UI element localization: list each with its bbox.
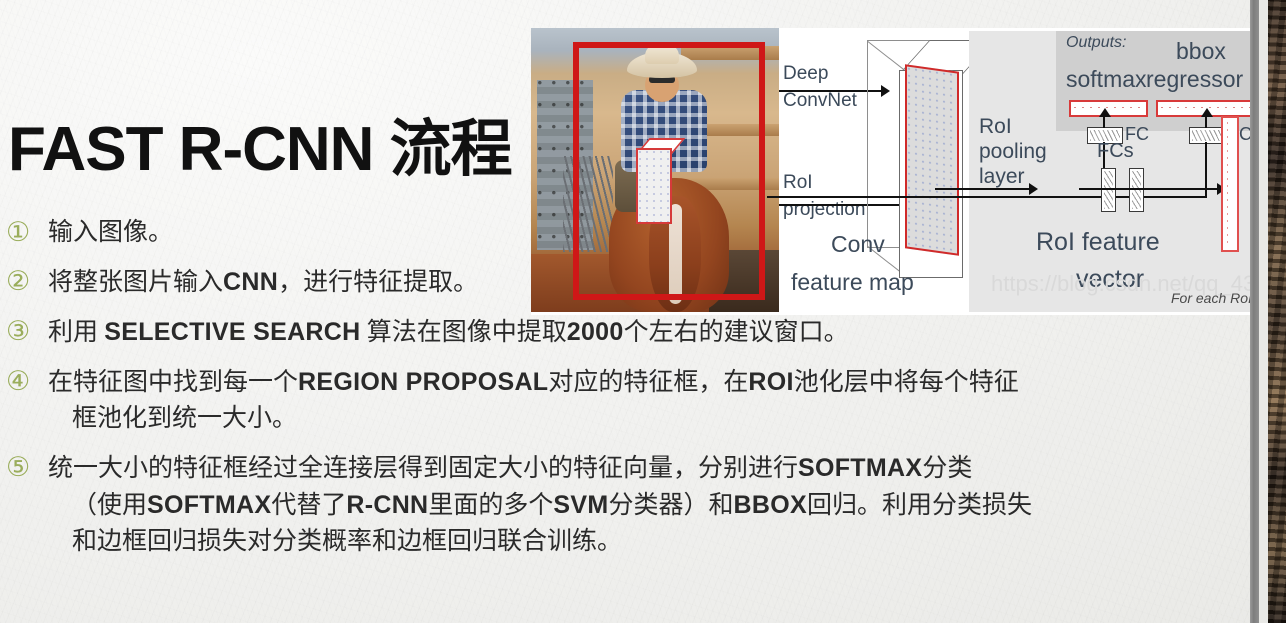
emphasized-term: R-CNN: [346, 491, 428, 519]
emphasized-term: CNN: [223, 268, 278, 296]
roi-pooling-label-line2: pooling: [979, 141, 1047, 163]
text-run: 将整张图片输入: [48, 269, 223, 296]
page-title: FAST R-CNN 流程: [8, 98, 512, 188]
text-run: 个左右的建议窗口。: [624, 319, 849, 346]
roi-pooling-layer-box: [636, 148, 672, 224]
roi-projection-label-line2: projection: [783, 199, 865, 221]
bbox-output-label-line2: regressor: [1146, 68, 1243, 90]
deep-convnet-label-line1: Deep: [783, 63, 828, 85]
text-run: 代替了: [271, 492, 346, 519]
list-item-line: 和边框回归损失对分类概率和边框回归联合训练。: [48, 524, 1186, 560]
text-run: 在特征图中找到每一个: [48, 369, 298, 396]
emphasized-term: SOFTMAX: [798, 454, 922, 482]
pooling-to-fcs-line: [1079, 188, 1221, 190]
fc-box-bbox: [1189, 127, 1225, 144]
right-dark-texture-strip: [1268, 0, 1286, 623]
fcs-label: FCs: [1097, 140, 1134, 162]
list-item-number: ⑤: [6, 450, 48, 486]
roi-pooling-label-line3: layer: [979, 166, 1025, 188]
text-run: 算法在图像中提取: [361, 319, 567, 346]
list-item-text: 在特征图中找到每一个REGION PROPOSAL对应的特征框，在ROI池化层中…: [48, 364, 1186, 437]
text-run: 利用: [48, 319, 104, 346]
list-item: ⑤统一大小的特征框经过全连接层得到固定大小的特征向量，分别进行SOFTMAX分类…: [6, 450, 1186, 560]
list-item-line: 统一大小的特征框经过全连接层得到固定大小的特征向量，分别进行SOFTMAX分类: [48, 450, 1186, 487]
list-item: ④在特征图中找到每一个REGION PROPOSAL对应的特征框，在ROI池化层…: [6, 364, 1186, 437]
text-run: 和边框回归损失对分类概率和边框回归联合训练。: [72, 528, 622, 555]
emphasized-term: SOFTMAX: [147, 491, 271, 519]
text-run: 分类器）和: [609, 492, 734, 519]
roi-feature-vector-bar: [1221, 116, 1239, 252]
emphasized-term: REGION PROPOSAL: [298, 368, 548, 396]
conv-feature-map-label-line2: feature map: [791, 271, 914, 293]
softmax-arrow-head: [1099, 108, 1111, 117]
emphasized-term: SELECTIVE SEARCH: [104, 318, 360, 346]
list-item-line: 在特征图中找到每一个REGION PROPOSAL对应的特征框，在ROI池化层中…: [48, 364, 1186, 401]
list-item-line: 利用 SELECTIVE SEARCH 算法在图像中提取2000个左右的建议窗口…: [48, 314, 1186, 351]
list-item-line: 框池化到统一大小。: [48, 401, 1186, 437]
emphasized-term: BBOX: [734, 491, 807, 519]
roi-feature-vector-label-line1: RoI feature: [1036, 231, 1160, 253]
featuremap-to-pooling-arrow: [1029, 183, 1038, 195]
right-grey-bar: [1250, 0, 1259, 623]
fcs-unit-1: [1101, 168, 1116, 212]
bbox-arrow-head: [1201, 108, 1213, 117]
text-run: 回归。利用分类损失: [807, 492, 1032, 519]
emphasized-term: ROI: [748, 368, 793, 396]
right-edge-gap: [1259, 0, 1268, 623]
text-run: 框池化到统一大小。: [72, 405, 297, 432]
list-item-number: ①: [6, 215, 48, 251]
fast-rcnn-architecture-diagram: Deep ConvNet RoI projection Conv feature…: [531, 28, 1266, 315]
emphasized-term: SVM: [553, 491, 608, 519]
softmax-output-label: softmax: [1066, 68, 1147, 90]
emphasized-term: 2000: [567, 318, 624, 346]
text-run: 统一大小的特征框经过全连接层得到固定大小的特征向量，分别进行: [48, 455, 798, 482]
roi-pooling-label-line1: RoI: [979, 116, 1012, 138]
conv-feature-map-label-line1: Conv: [831, 233, 885, 255]
text-run: 里面的多个: [428, 492, 553, 519]
text-run: （使用: [72, 492, 147, 519]
list-item-number: ②: [6, 264, 48, 300]
text-run: 输入图像。: [48, 219, 173, 246]
list-item: ③利用 SELECTIVE SEARCH 算法在图像中提取2000个左右的建议窗…: [6, 314, 1186, 351]
list-item-text: 利用 SELECTIVE SEARCH 算法在图像中提取2000个左右的建议窗口…: [48, 314, 1186, 351]
text-run: 对应的特征框，在: [548, 369, 748, 396]
list-item-number: ④: [6, 364, 48, 400]
outputs-label: Outputs:: [1066, 34, 1126, 52]
text-run: ，进行特征提取。: [278, 269, 478, 296]
deep-convnet-label-line2: ConvNet: [783, 90, 857, 112]
list-item-line: （使用SOFTMAX代替了R-CNN里面的多个SVM分类器）和BBOX回归。利用…: [48, 487, 1186, 524]
bbox-output-label-line1: bbox: [1176, 40, 1226, 62]
roi-feature-vector-ticks: [1227, 122, 1228, 246]
list-item-text: 统一大小的特征框经过全连接层得到固定大小的特征向量，分别进行SOFTMAX分类（…: [48, 450, 1186, 560]
fcs-unit-2: [1129, 168, 1144, 212]
roi-region-on-feature-map: [905, 64, 959, 256]
roi-projection-label-line1: RoI: [783, 172, 813, 194]
list-item-number: ③: [6, 314, 48, 350]
featuremap-to-pooling-line: [935, 188, 1033, 190]
slide-canvas: FAST R-CNN 流程 ①输入图像。②将整张图片输入CNN，进行特征提取。③…: [0, 0, 1286, 623]
for-each-roi-label: For each RoI: [1171, 290, 1252, 306]
text-run: 池化层中将每个特征: [794, 369, 1019, 396]
text-run: 分类: [922, 455, 972, 482]
